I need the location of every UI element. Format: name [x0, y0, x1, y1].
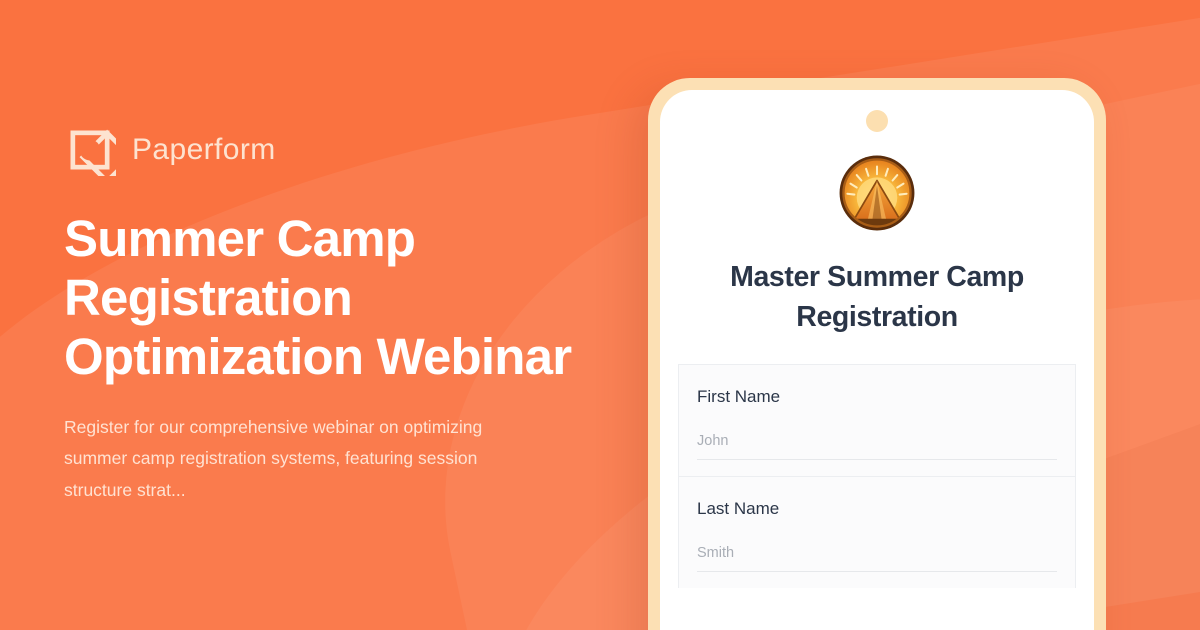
- page-title: Summer Camp Registration Optimization We…: [64, 210, 604, 386]
- form-title: Master Summer Camp Registration: [692, 258, 1062, 338]
- form-field-first-name[interactable]: First Name John: [678, 364, 1076, 476]
- phone-mockup: Master Summer Camp Registration First Na…: [648, 78, 1106, 630]
- phone-screen: Master Summer Camp Registration First Na…: [660, 90, 1094, 630]
- brand-name: Paperform: [132, 133, 276, 167]
- form-fields: First Name John Last Name Smith: [678, 364, 1076, 588]
- hero-description: Register for our comprehensive webinar o…: [64, 412, 534, 505]
- form-field-last-name[interactable]: Last Name Smith: [678, 476, 1076, 588]
- last-name-input[interactable]: Smith: [697, 545, 1057, 572]
- hero-text-panel: Paperform Summer Camp Registration Optim…: [64, 0, 624, 630]
- first-name-input[interactable]: John: [697, 433, 1057, 460]
- promo-banner: Paperform Summer Camp Registration Optim…: [0, 0, 1200, 630]
- paperform-logo-icon: [64, 124, 116, 176]
- brand-lockup: Paperform: [64, 124, 624, 176]
- field-label: Last Name: [697, 499, 1057, 519]
- camera-dot-icon: [866, 110, 888, 132]
- camp-tent-badge-icon: [838, 154, 916, 232]
- field-label: First Name: [697, 387, 1057, 407]
